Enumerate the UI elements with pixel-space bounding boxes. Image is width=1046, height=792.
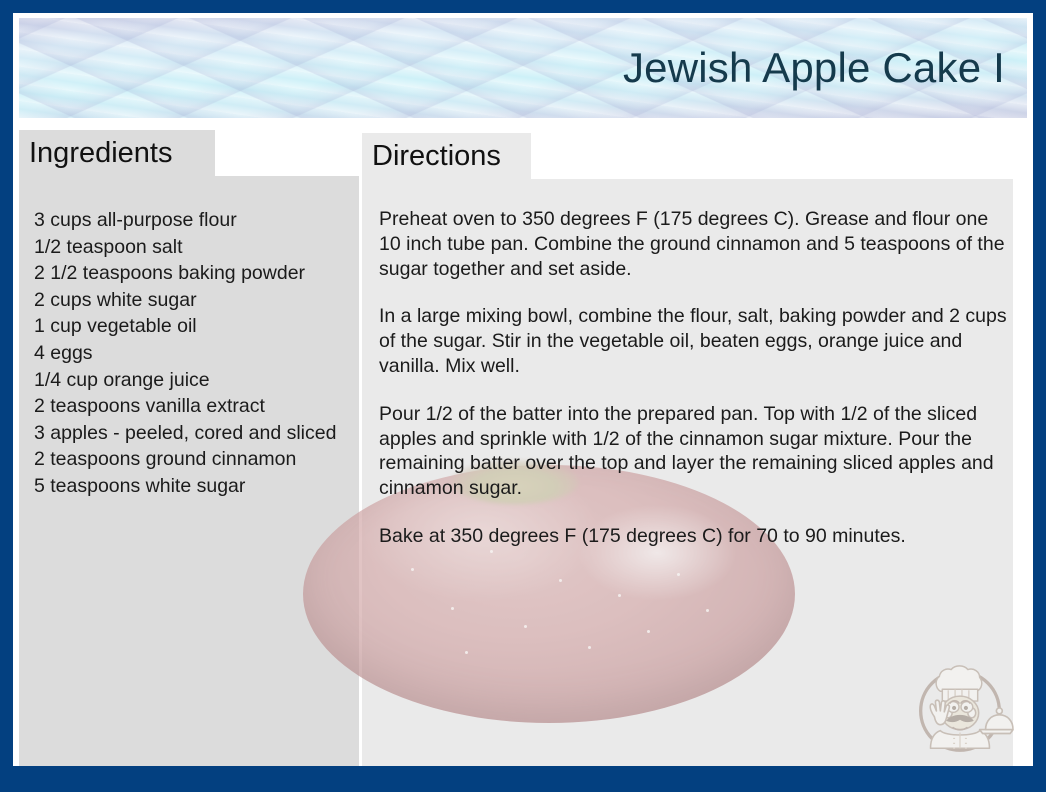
direction-step: Bake at 350 degrees F (175 degrees C) fo… <box>379 524 1007 549</box>
ingredients-list: 3 cups all-purpose flour1/2 teaspoon sal… <box>34 207 356 500</box>
ingredient-item: 3 apples - peeled, cored and sliced <box>34 420 356 447</box>
ingredient-item: 4 eggs <box>34 340 356 367</box>
directions-list: Preheat oven to 350 degrees F (175 degre… <box>379 207 1007 549</box>
page-title: Jewish Apple Cake I <box>623 47 1005 89</box>
ingredient-item: 1/4 cup orange juice <box>34 367 356 394</box>
directions-heading: Directions <box>362 133 531 179</box>
ingredient-item: 2 1/2 teaspoons baking powder <box>34 260 356 287</box>
direction-step: Pour 1/2 of the batter into the prepared… <box>379 402 1007 501</box>
chef-mascot-icon <box>901 646 1019 764</box>
ingredient-item: 2 cups white sugar <box>34 287 356 314</box>
slide-page: Jewish Apple Cake I Ingredients Directio… <box>13 13 1033 766</box>
direction-step: Preheat oven to 350 degrees F (175 degre… <box>379 207 1007 281</box>
ingredient-item: 3 cups all-purpose flour <box>34 207 356 234</box>
ingredient-item: 1 cup vegetable oil <box>34 313 356 340</box>
ingredient-item: 2 teaspoons vanilla extract <box>34 393 356 420</box>
ingredients-heading: Ingredients <box>19 130 215 176</box>
ingredient-item: 2 teaspoons ground cinnamon <box>34 446 356 473</box>
direction-step: In a large mixing bowl, combine the flou… <box>379 304 1007 378</box>
recipe-slide: Jewish Apple Cake I Ingredients Directio… <box>0 0 1046 792</box>
ingredient-item: 1/2 teaspoon salt <box>34 234 356 261</box>
chef-mascot-logo <box>901 646 1019 764</box>
ingredient-item: 5 teaspoons white sugar <box>34 473 356 500</box>
header-banner: Jewish Apple Cake I <box>19 18 1027 118</box>
